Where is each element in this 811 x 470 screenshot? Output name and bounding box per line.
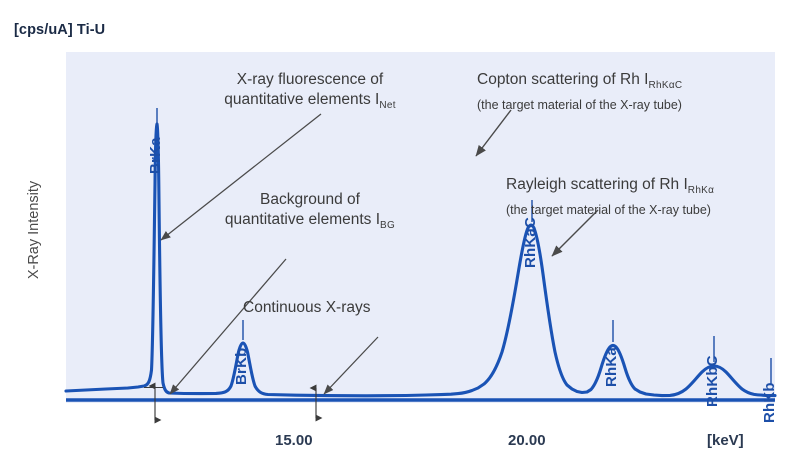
annotation-rayleigh: Rayleigh scattering of Rh IRhKα (the tar… (506, 175, 714, 219)
annotation-fluorescence-line1: X-ray fluorescence of (200, 70, 420, 90)
annotation-fluorescence-line2: quantitative elements INet (200, 90, 420, 116)
peak-label-rhkac: RhKaC (522, 217, 539, 268)
peak-label-rhka: RhKa (603, 347, 620, 387)
annotation-rayleigh-line2: (the target material of the X-ray tube) (506, 201, 714, 219)
peak-label-rhkb: RhKb (761, 382, 778, 423)
annotation-compton: Copton scattering of Rh IRhKαC (the targ… (477, 70, 682, 114)
peak-label-rhkbc: RhKbC (704, 355, 721, 407)
spectrum-curve (66, 124, 775, 396)
leader-continuous (324, 337, 378, 394)
annotation-rayleigh-line1-text: Rayleigh scattering of Rh I (506, 176, 688, 193)
annotation-background-line1: Background of (200, 190, 420, 210)
annotation-background: Background of quantitative elements IBG (200, 190, 420, 236)
annotation-compton-line1-text: Copton scattering of Rh I (477, 71, 648, 88)
peak-label-brkb: BrKb (233, 348, 250, 385)
x-tick-label-20: 20.00 (508, 432, 546, 449)
leader-compton (476, 110, 511, 156)
annotation-background-line2-text: quantitative elements I (225, 211, 380, 228)
annotation-continuous: Continuous X-rays (243, 298, 371, 318)
annotation-compton-line1: Copton scattering of Rh IRhKαC (477, 70, 682, 96)
leader-background (170, 259, 286, 394)
annotation-fluorescence: X-ray fluorescence of quantitative eleme… (200, 70, 420, 116)
x-axis-unit: [keV] (707, 432, 744, 449)
annotation-fluorescence-subscript: Net (379, 100, 395, 111)
annotation-compton-line2: (the target material of the X-ray tube) (477, 96, 682, 114)
y-axis-title: X-Ray Intensity (26, 130, 42, 330)
annotation-background-line2: quantitative elements IBG (200, 210, 420, 236)
x-tick-label-15: 15.00 (275, 432, 313, 449)
annotation-compton-subscript: RhKαC (648, 80, 682, 91)
unit-title: [cps/uA] Ti-U (14, 22, 105, 38)
annotation-continuous-line1: Continuous X-rays (243, 298, 371, 318)
peak-label-brka: BrKa (147, 137, 164, 174)
annotation-rayleigh-line1: Rayleigh scattering of Rh IRhKα (506, 175, 714, 201)
annotation-rayleigh-subscript: RhKα (688, 185, 714, 196)
annotation-background-subscript: BG (380, 220, 395, 231)
annotation-fluorescence-line2-text: quantitative elements I (224, 91, 379, 108)
